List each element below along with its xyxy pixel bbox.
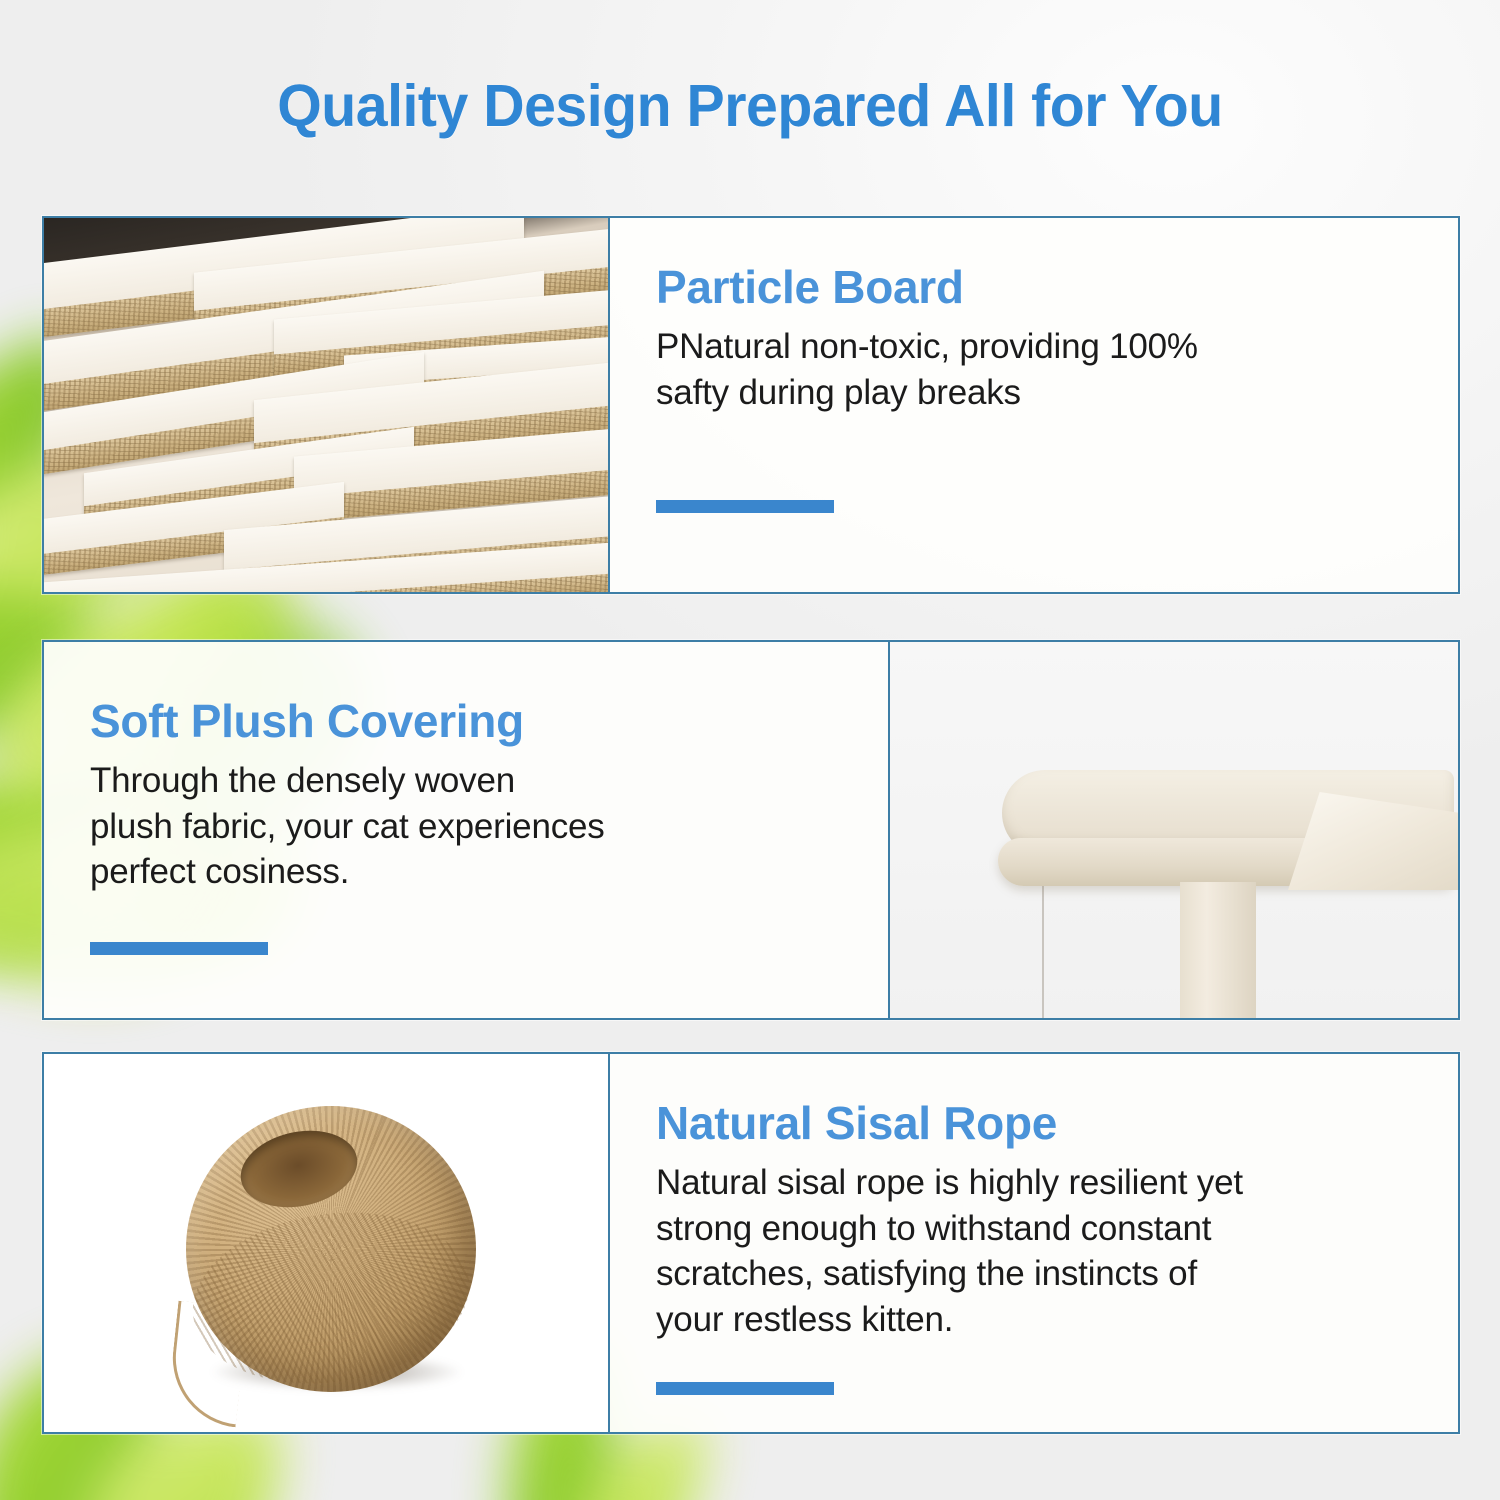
- feature-card-particle-board: Particle Board PNatural non-toxic, provi…: [42, 216, 1460, 594]
- plush-cat-tree-platform-photo: [888, 642, 1458, 1018]
- body-line: Natural sisal rope is highly resilient y…: [656, 1160, 1412, 1206]
- infographic-page: Quality Design Prepared All for You Part…: [0, 0, 1500, 1500]
- particle-board-text-pane: Particle Board PNatural non-toxic, provi…: [610, 218, 1458, 592]
- body-line: scratches, satisfying the instincts of: [656, 1251, 1412, 1297]
- body-line: strong enough to withstand constant: [656, 1206, 1412, 1252]
- body-line: PNatural non-toxic, providing 100%: [656, 324, 1412, 370]
- card-heading: Natural Sisal Rope: [656, 1096, 1412, 1150]
- card-body: Through the densely woven plush fabric, …: [90, 758, 842, 895]
- body-line: plush fabric, your cat experiences: [90, 804, 842, 850]
- sisal-rope-text-pane: Natural Sisal Rope Natural sisal rope is…: [610, 1054, 1458, 1432]
- accent-bar: [656, 1382, 834, 1395]
- accent-bar: [90, 942, 268, 955]
- soft-plush-text-pane: Soft Plush Covering Through the densely …: [44, 642, 888, 1018]
- body-line: your restless kitten.: [656, 1297, 1412, 1343]
- sisal-rope-ball-photo: [44, 1054, 610, 1432]
- feature-card-natural-sisal-rope: Natural Sisal Rope Natural sisal rope is…: [42, 1052, 1460, 1434]
- body-line: Through the densely woven: [90, 758, 842, 804]
- body-line: safty during play breaks: [656, 370, 1412, 416]
- page-title: Quality Design Prepared All for You: [23, 72, 1478, 140]
- card-heading: Soft Plush Covering: [90, 694, 842, 748]
- accent-bar: [656, 500, 834, 513]
- card-body: Natural sisal rope is highly resilient y…: [656, 1160, 1412, 1342]
- card-heading: Particle Board: [656, 260, 1412, 314]
- card-body: PNatural non-toxic, providing 100% safty…: [656, 324, 1412, 415]
- particle-board-stack-photo: [44, 218, 610, 592]
- feature-card-soft-plush-covering: Soft Plush Covering Through the densely …: [42, 640, 1460, 1020]
- body-line: perfect cosiness.: [90, 849, 842, 895]
